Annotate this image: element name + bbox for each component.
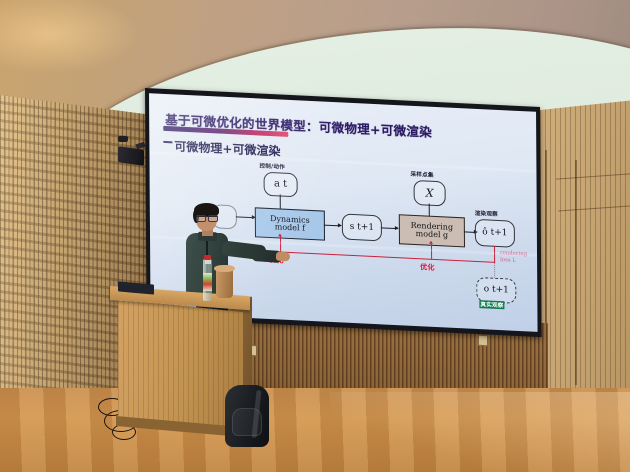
photo-scene: 基于可微优化的世界模型：可微物理+可微渲染 可微物理+可微渲染 控制/动作 a … [0,0,630,472]
ceiling-warm-glow [0,0,140,74]
rendering-line2: model g [416,230,449,240]
wall-panel-seam [575,160,577,385]
arrow-dynamics-to-state [324,225,341,227]
coffee-cup [216,268,233,298]
water-bottle-cap [204,255,211,260]
node-pred-obs-text: ô t+1 [482,228,507,238]
node-predicted-observation: ô t+1 [475,219,515,248]
label-control-action: 控制/动作 [259,162,284,171]
presenter-pointing-hand [276,252,290,262]
node-dynamics-model: Dynamics model f [255,207,325,240]
floor-light-reflection [330,392,630,472]
bullet-dash [163,141,172,143]
node-next-state: s t+1 [342,213,382,241]
ceiling-sensor [118,136,128,142]
water-bottle-label [203,273,212,291]
loss-label-line2: loss L [500,257,516,265]
node-action: a t [264,172,298,198]
label-real-observation: 真实观察 [479,300,504,309]
optimize-label-right: 优化 [420,262,434,273]
node-action-text: a t [274,179,287,190]
arrow-into-dynamics [236,216,255,218]
node-next-state-text: s t+1 [350,222,374,232]
label-sample-points: 采样点集 [410,170,433,179]
node-sample-text: X [426,187,434,198]
coffee-cup-lid [214,265,235,272]
arrow-state-to-rendering [381,227,398,229]
wall-outlet [478,335,488,347]
dynamics-line2: model f [275,223,305,232]
presenter-glasses-bridge [196,216,217,222]
node-true-obs-text: o t+1 [484,285,509,295]
label-rendered-observation: 渲染观察 [475,209,498,218]
node-sample-points: X [414,180,446,207]
